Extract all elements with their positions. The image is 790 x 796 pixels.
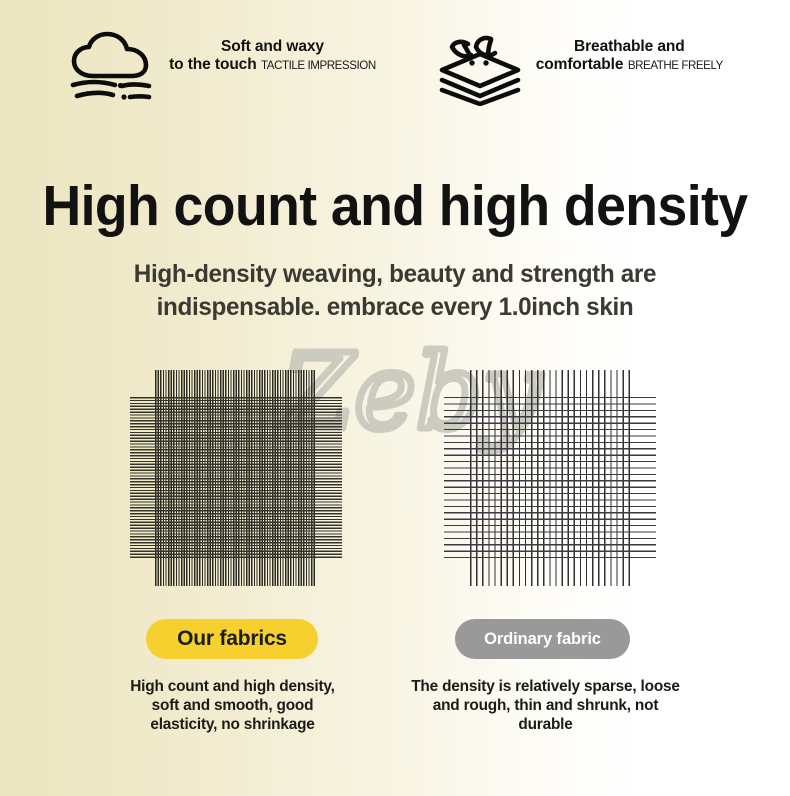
feature-highlights-row: Soft and waxy to the touch TACTILE IMPRE… [0, 30, 790, 106]
product-feature-banner: Soft and waxy to the touch TACTILE IMPRE… [0, 0, 790, 796]
label-our-fabrics[interactable]: Our fabrics [146, 619, 318, 659]
swatch-ours-weft-threads [130, 397, 342, 559]
feature-breathable: Breathable and comfortable BREATHE FREEL… [434, 30, 723, 106]
feature-tactile: Soft and waxy to the touch TACTILE IMPRE… [67, 30, 376, 106]
feature-breathable-text: Breathable and comfortable BREATHE FREEL… [536, 30, 723, 74]
cloud-with-wind-lines-icon [67, 30, 159, 106]
layered-fabric-with-leaves-icon [434, 30, 526, 106]
page-subtitle: High-density weaving, beauty and strengt… [12, 258, 778, 324]
label-ordinary-fabric[interactable]: Ordinary fabric [455, 619, 630, 659]
feature-tactile-text: Soft and waxy to the touch TACTILE IMPRE… [169, 30, 376, 74]
swatch-ordinary-weft-threads [444, 397, 656, 559]
caption-our-fabrics: High count and high density, soft and sm… [70, 678, 395, 735]
feature-breathable-subtitle: BREATHE FREELY [628, 59, 723, 72]
page-title: High count and high density [24, 178, 767, 235]
caption-ordinary-fabric: The density is relatively sparse, loose … [378, 678, 713, 735]
feature-tactile-subtitle: TACTILE IMPRESSION [261, 59, 376, 72]
